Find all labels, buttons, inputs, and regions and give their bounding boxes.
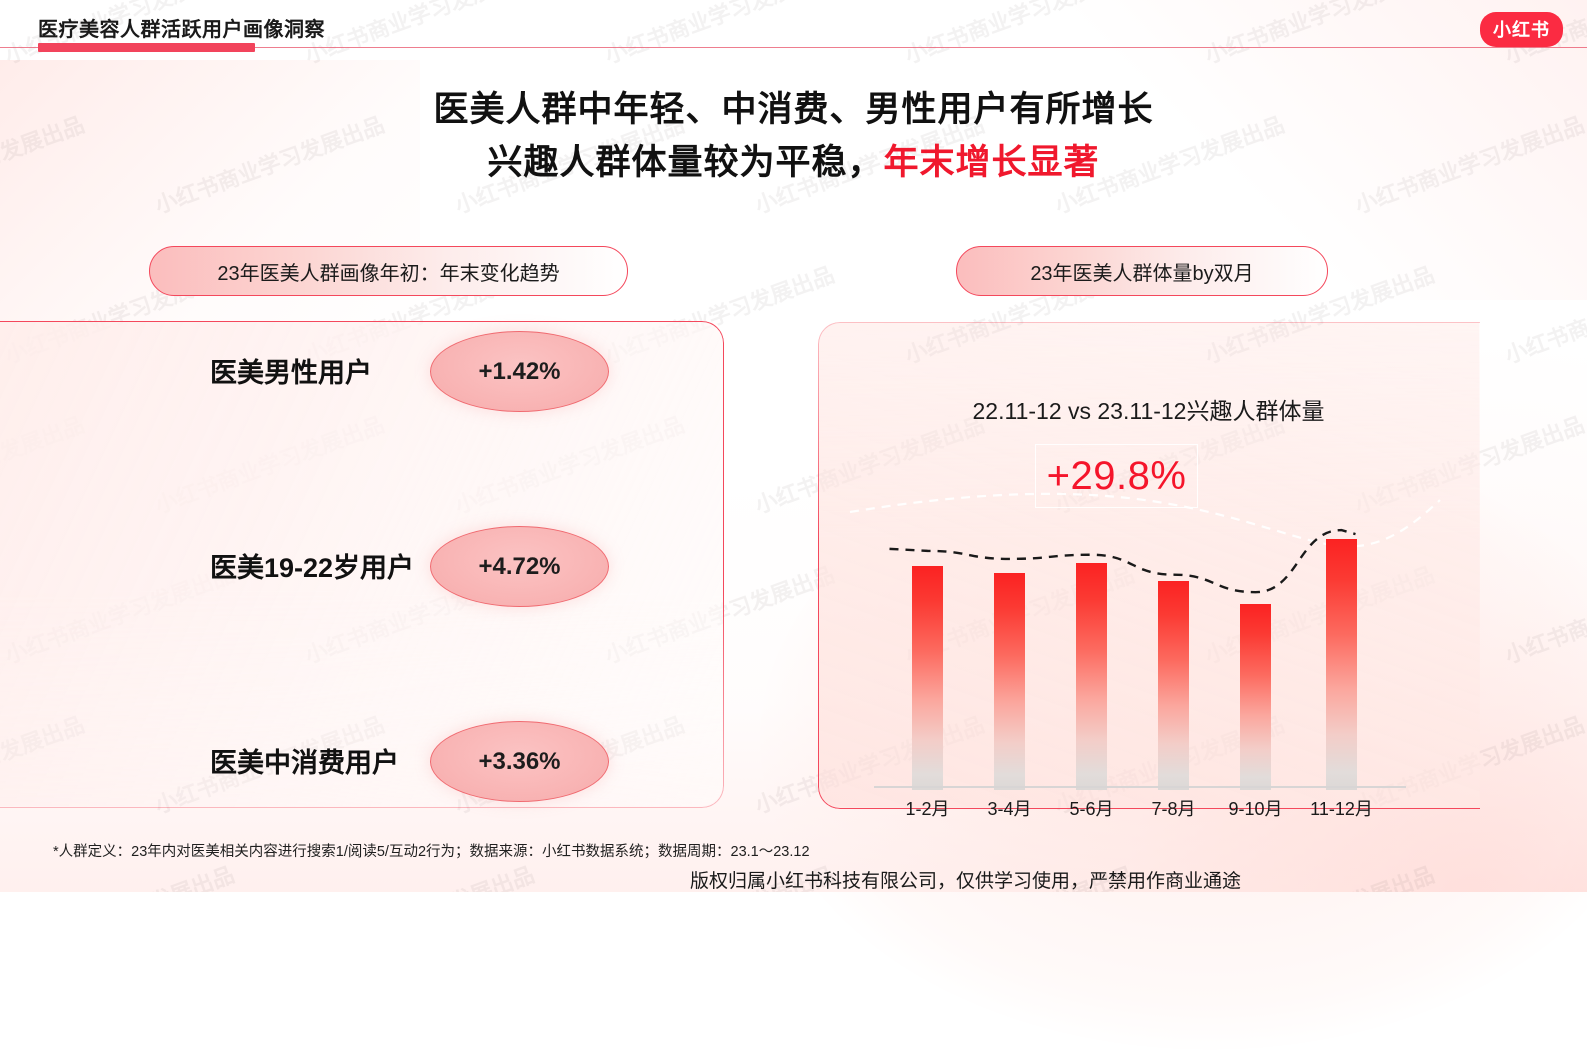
headline-line-2: 兴趣人群体量较为平稳，年末增长显著	[0, 136, 1587, 189]
chart-caption: 22.11-12 vs 23.11-12兴趣人群体量	[818, 392, 1479, 426]
metric-label: 医美中消费用户	[210, 741, 399, 780]
headline-line-2-plain: 兴趣人群体量较为平稳，	[487, 143, 883, 182]
metric-bubble: +4.72%	[430, 526, 609, 607]
watermark-text: 小红书商业学习发展出品	[1500, 557, 1587, 670]
metric-bubble: +1.42%	[430, 331, 609, 412]
header-divider-accent	[38, 43, 255, 52]
trend-line	[870, 490, 1410, 790]
copyright-text: 版权归属小红书科技有限公司，仅供学习使用，严禁用作商业通途	[690, 866, 1241, 893]
metric-label: 医美男性用户	[210, 351, 372, 390]
chart-x-axis	[874, 786, 1406, 788]
watermark-text: 小红书商业学习发展出品	[0, 857, 238, 892]
metric-row: 医美中消费用户 +3.36%	[0, 721, 733, 801]
watermark-text: 小红书商业学习发展出品	[1500, 857, 1587, 892]
metric-label: 医美19-22岁用户	[210, 546, 414, 585]
footnote-text: *人群定义：23年内对医美相关内容进行搜索1/阅读5/互动2行为；数据来源：小红…	[53, 840, 810, 861]
metric-row: 医美男性用户 +1.42%	[0, 331, 733, 411]
metric-row: 医美19-22岁用户 +4.72%	[0, 526, 733, 606]
watermark-text: 小红书商业学习发展出品	[1500, 257, 1587, 370]
bar-chart	[870, 490, 1410, 790]
x-tick-label: 11-12月	[1287, 795, 1397, 821]
page-header: 医疗美容人群活跃用户画像洞察 小红书	[0, 0, 1587, 58]
headline-line-1: 医美人群中年轻、中消费、男性用户有所增长	[0, 83, 1587, 136]
left-panel-pill-label: 23年医美人群画像年初：年末变化趋势	[149, 246, 628, 296]
watermark-text: 小红书商业学习发展出品	[300, 857, 538, 892]
right-panel-pill-label: 23年医美人群体量by双月	[956, 246, 1328, 296]
metric-bubble: +3.36%	[430, 721, 609, 802]
headline-block: 医美人群中年轻、中消费、男性用户有所增长 兴趣人群体量较为平稳，年末增长显著	[0, 83, 1587, 189]
page-title: 医疗美容人群活跃用户画像洞察	[38, 13, 325, 42]
brand-logo: 小红书	[1480, 12, 1563, 47]
headline-line-2-highlight: 年末增长显著	[884, 143, 1100, 182]
